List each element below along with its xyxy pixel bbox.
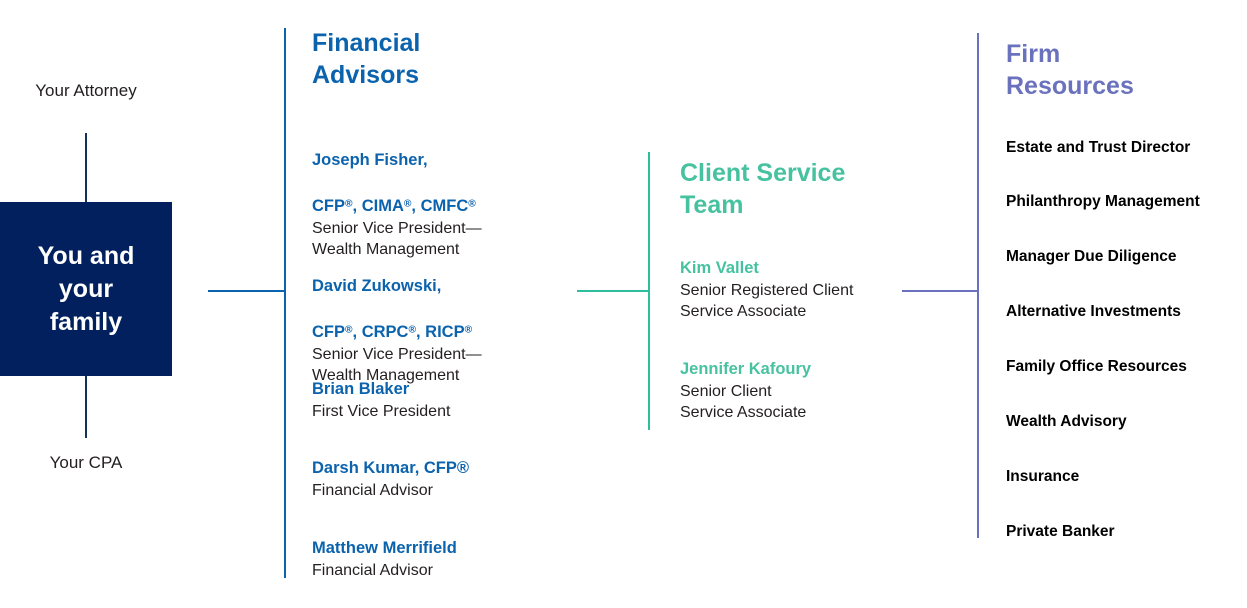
firm-resource-item: Family Office Resources [1006, 357, 1187, 377]
advisor-title: Financial Advisor [312, 560, 457, 581]
client-service-title: Senior Registered Client Service Associa… [680, 280, 853, 322]
financial-advisors-heading: Financial Advisors [312, 27, 420, 91]
client-service-team-heading: Client Service Team [680, 157, 845, 221]
client-to-advisors-connector [208, 290, 286, 292]
financial-advisors-spine [284, 28, 286, 578]
firm-resource-item: Philanthropy Management [1006, 192, 1200, 212]
team-structure-diagram: Your Attorney You and your family Your C… [0, 0, 1247, 608]
client-service-spine [648, 152, 650, 430]
your-cpa-label: Your CPA [6, 452, 166, 474]
firm-resources-spine [977, 33, 979, 538]
firm-resource-item: Estate and Trust Director [1006, 138, 1190, 158]
advisors-to-client-service-connector [577, 290, 650, 292]
your-attorney-label: Your Attorney [6, 80, 166, 102]
firm-resources-heading: Firm Resources [1006, 38, 1134, 102]
advisor-name: Darsh Kumar, CFP® [312, 457, 469, 480]
firm-resource-item: Manager Due Diligence [1006, 247, 1177, 267]
you-and-your-family-box: You and your family [0, 202, 172, 376]
firm-resource-item: Private Banker [1006, 522, 1115, 542]
cpa-connector-line [85, 376, 87, 438]
advisor-credentials: CFP®, CRPC®, RICP® [312, 323, 472, 341]
advisor-entry-david-zukowski: David Zukowski, CFP®, CRPC®, RICP® Senio… [312, 252, 482, 386]
advisor-entry-brian-blaker: Brian Blaker First Vice President [312, 378, 450, 422]
client-service-title: Senior Client Service Associate [680, 381, 811, 423]
client-service-entry-kim-vallet: Kim Vallet Senior Registered Client Serv… [680, 257, 853, 322]
advisor-title: First Vice President [312, 401, 450, 422]
you-and-your-family-label: You and your family [28, 240, 145, 339]
client-service-entry-jennifer-kafoury: Jennifer Kafoury Senior Client Service A… [680, 358, 811, 423]
advisor-name: David Zukowski, CFP®, CRPC®, RICP® [312, 252, 482, 344]
advisor-name: Matthew Merrifield [312, 537, 457, 560]
advisor-credentials: CFP®, CIMA®, CMFC® [312, 197, 476, 215]
attorney-connector-line [85, 133, 87, 202]
advisor-title: Financial Advisor [312, 480, 469, 501]
firm-resource-item: Wealth Advisory [1006, 412, 1127, 432]
advisor-entry-matthew-merrifield: Matthew Merrifield Financial Advisor [312, 537, 457, 581]
firm-resource-item: Alternative Investments [1006, 302, 1181, 322]
advisor-name: Brian Blaker [312, 378, 450, 401]
advisor-name: Joseph Fisher, CFP®, CIMA®, CMFC® [312, 126, 482, 218]
advisor-entry-darsh-kumar: Darsh Kumar, CFP® Financial Advisor [312, 457, 469, 501]
client-service-name: Jennifer Kafoury [680, 358, 811, 381]
advisor-entry-joseph-fisher: Joseph Fisher, CFP®, CIMA®, CMFC® Senior… [312, 126, 482, 260]
client-service-to-firm-resources-connector [902, 290, 978, 292]
firm-resource-item: Insurance [1006, 467, 1079, 487]
client-service-name: Kim Vallet [680, 257, 853, 280]
